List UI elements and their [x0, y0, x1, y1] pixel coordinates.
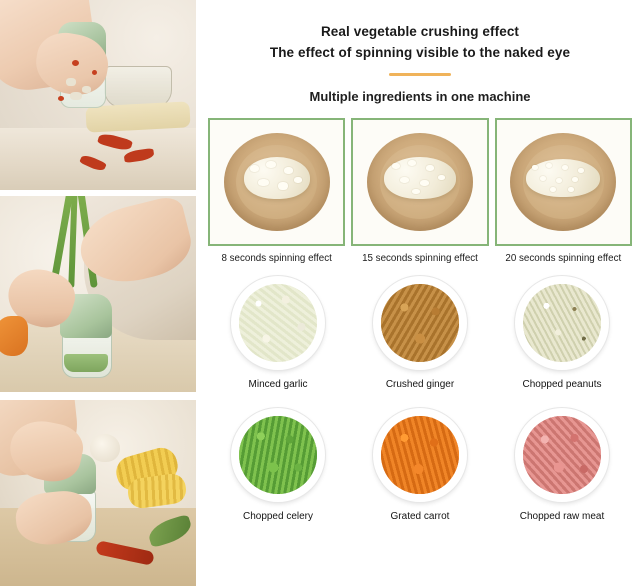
bowl-inner: [239, 284, 317, 362]
ingredient-label: Chopped peanuts: [498, 379, 626, 390]
ingredient-label: Crushed ginger: [356, 379, 484, 390]
ingredient-cell-grated-carrot: Grated carrot: [356, 408, 484, 522]
bowl-crushed-ginger: [373, 276, 467, 370]
bowl-grated-carrot: [373, 408, 467, 502]
ingredient-cell-crushed-ginger: Crushed ginger: [356, 276, 484, 390]
photo3-garlic: [90, 434, 120, 462]
bowl-inner: [381, 416, 459, 494]
spin-effect-panels: [200, 118, 640, 246]
photo-chopper-chili: [0, 0, 196, 190]
ingredient-label: Grated carrot: [356, 511, 484, 522]
photo1-chili-splash: [72, 60, 79, 66]
minced-garlic-pile: [384, 157, 456, 199]
ingredient-label: Minced garlic: [214, 379, 342, 390]
caption-20s: 20 seconds spinning effect: [495, 253, 632, 264]
photo-chopper-corn-garlic: [0, 400, 196, 586]
bowl-minced-garlic: [231, 276, 325, 370]
caption-8s: 8 seconds spinning effect: [208, 253, 345, 264]
bowl-chopped-celery: [231, 408, 325, 502]
photo2-carrot: [0, 316, 28, 356]
spin-panel-captions: 8 seconds spinning effect 15 seconds spi…: [200, 253, 640, 264]
ingredient-cell-minced-garlic: Minced garlic: [214, 276, 342, 390]
bowl-inner: [523, 416, 601, 494]
headline-line-2: The effect of spinning visible to the na…: [200, 43, 640, 64]
headline-divider: [389, 73, 451, 76]
food-texture-peanuts: [523, 284, 601, 362]
subtitle: Multiple ingredients in one machine: [200, 89, 640, 104]
minced-garlic-pile: [526, 159, 600, 197]
photo-chopper-scallions: [0, 196, 196, 392]
headline-line-1: Real vegetable crushing effect: [200, 22, 640, 43]
photo1-food-bit: [66, 78, 76, 86]
bowl-inner: [523, 284, 601, 362]
spin-panel-20s: [495, 118, 632, 246]
food-texture-ginger: [381, 284, 459, 362]
bowl-chopped-peanuts: [515, 276, 609, 370]
product-infographic: Real vegetable crushing effect The effec…: [0, 0, 640, 586]
ingredient-cell-chopped-peanuts: Chopped peanuts: [498, 276, 626, 390]
headline-block: Real vegetable crushing effect The effec…: [200, 0, 640, 64]
ingredient-cell-chopped-celery: Chopped celery: [214, 408, 342, 522]
photo1-food-bit: [82, 86, 91, 93]
photo1-chili-splash: [58, 96, 64, 101]
ingredient-row-2: Chopped celery Grated carrot: [214, 408, 626, 522]
food-texture-meat: [523, 416, 601, 494]
bowl-inner: [239, 416, 317, 494]
left-photo-column: [0, 0, 196, 586]
spin-panel-15s: [351, 118, 488, 246]
right-content-column: Real vegetable crushing effect The effec…: [200, 0, 640, 586]
bowl-inner: [381, 284, 459, 362]
bowl-chopped-raw-meat: [515, 408, 609, 502]
ingredient-grid: Minced garlic Crushed ginger: [200, 276, 640, 522]
food-texture-celery: [239, 416, 317, 494]
food-texture-garlic: [239, 284, 317, 362]
minced-garlic-pile: [244, 157, 310, 199]
food-texture-carrot: [381, 416, 459, 494]
ingredient-row-1: Minced garlic Crushed ginger: [214, 276, 626, 390]
photo1-chili-splash: [92, 70, 97, 75]
photo1-food-bit: [70, 92, 82, 100]
ingredient-cell-chopped-raw-meat: Chopped raw meat: [498, 408, 626, 522]
ingredient-label: Chopped raw meat: [498, 511, 626, 522]
photo2-jar-contents: [64, 354, 108, 372]
ingredient-label: Chopped celery: [214, 511, 342, 522]
caption-15s: 15 seconds spinning effect: [351, 253, 488, 264]
spin-panel-8s: [208, 118, 345, 246]
